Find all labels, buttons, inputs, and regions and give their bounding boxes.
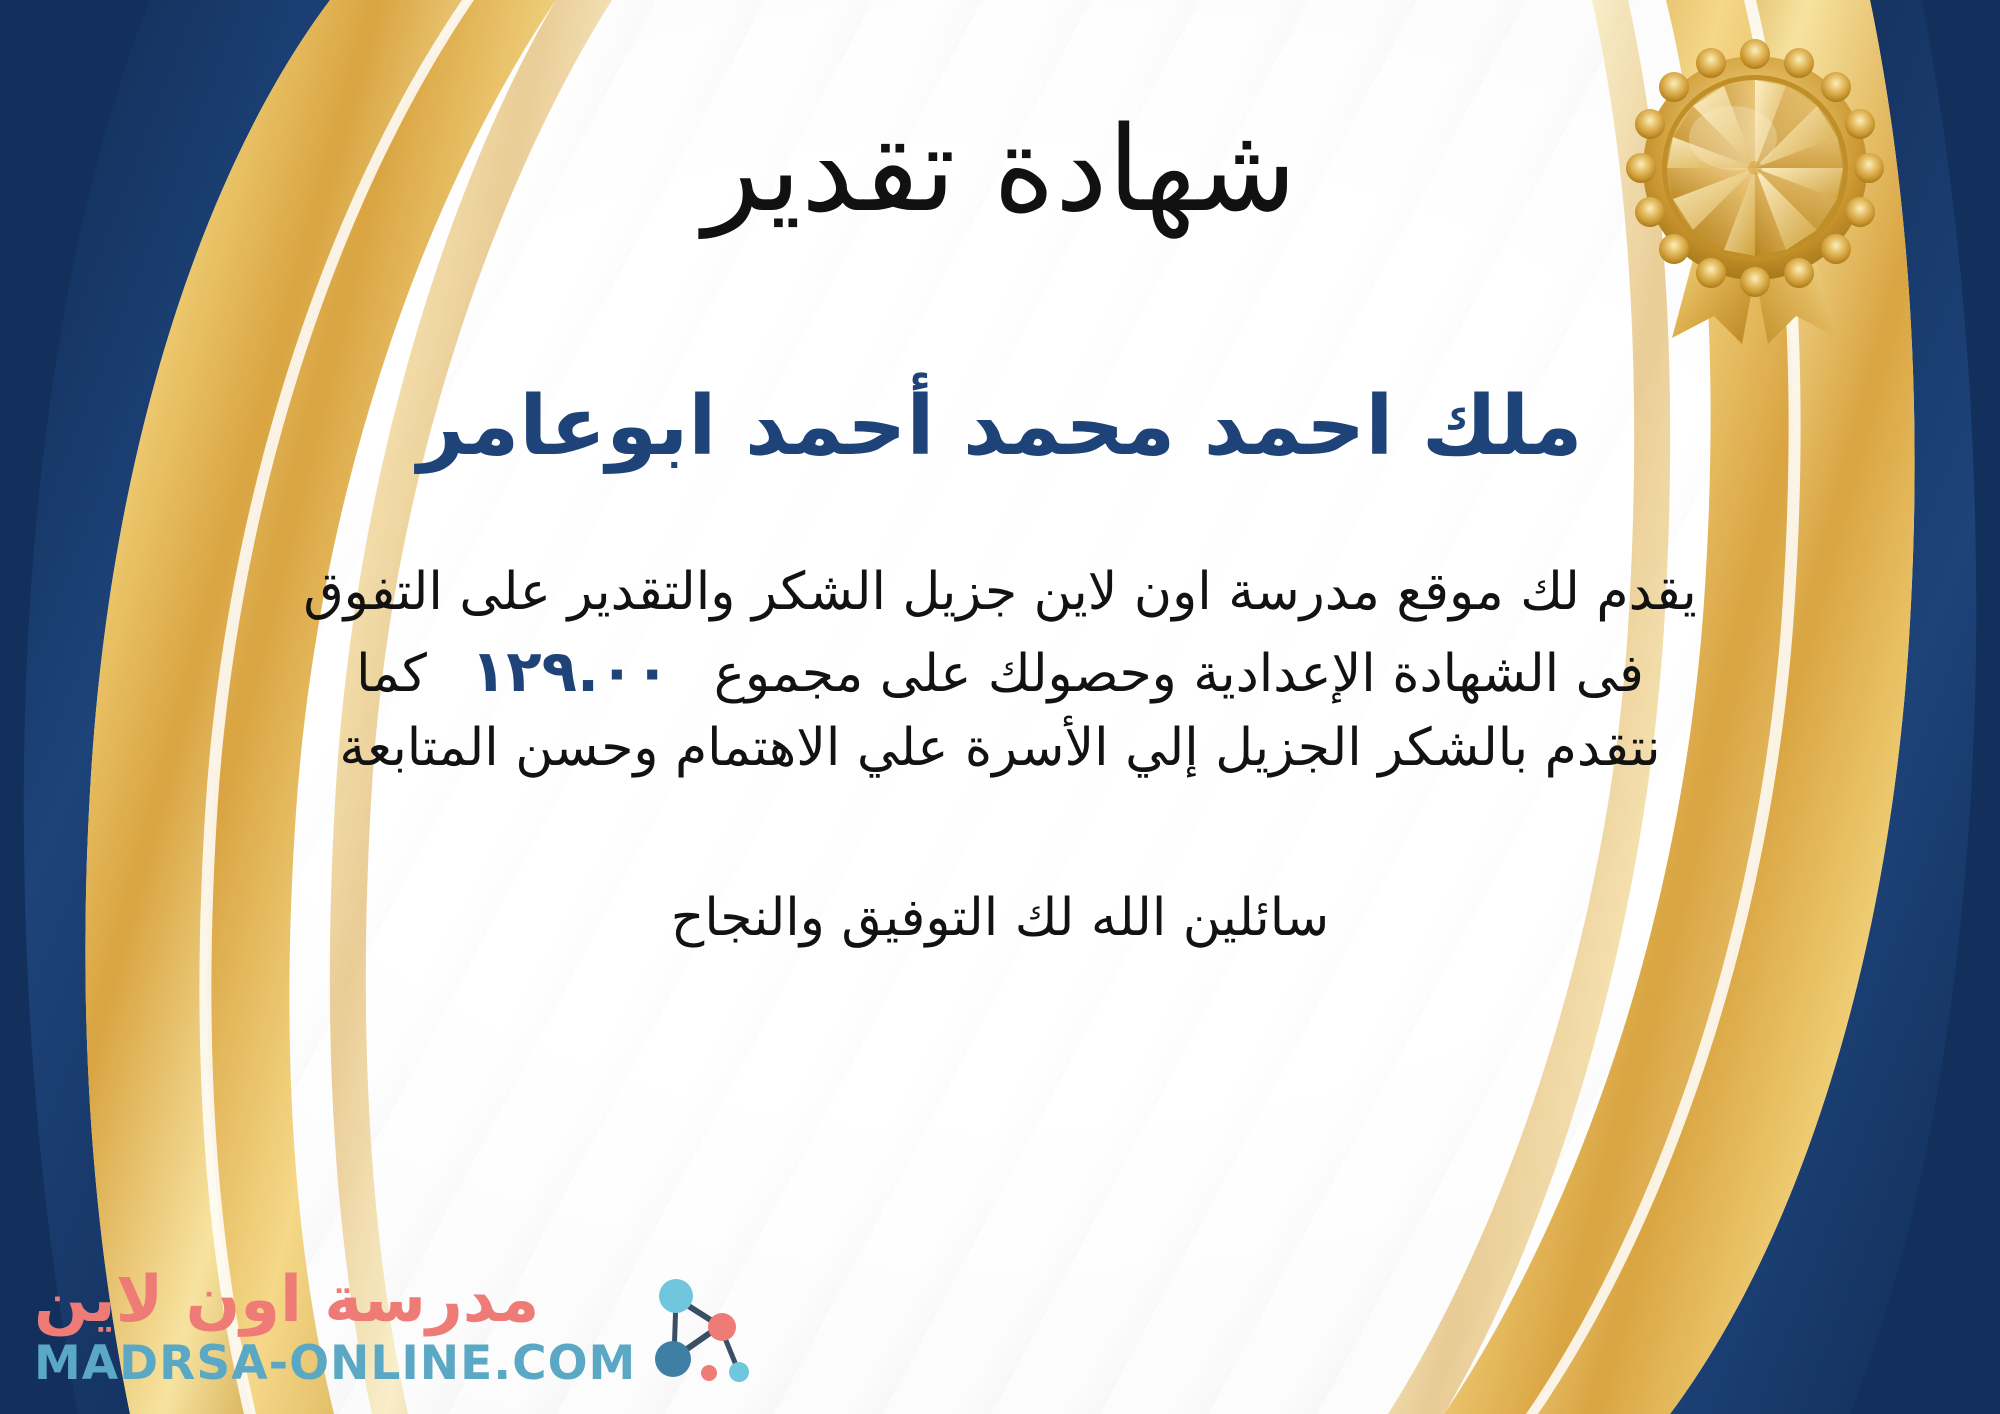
site-logo[interactable]: مدرسة اون لاين MADRSA-ONLINE.COM — [34, 1267, 752, 1388]
total-score-value: ١٢٩.٠٠ — [427, 637, 714, 705]
network-nodes-icon — [646, 1270, 750, 1386]
certificate-page: شهادة تقدير ملك احمد محمد أحمد ابوعامر ي… — [0, 0, 2000, 1414]
body-line-1: يقدم لك موقع مدرسة اون لاين جزيل الشكر و… — [220, 556, 1780, 630]
recipient-name: ملك احمد محمد أحمد ابوعامر — [0, 232, 2000, 472]
closing-line: سائلين الله لك التوفيق والنجاح — [0, 786, 2000, 955]
body-line-2-after: كما — [356, 644, 427, 704]
body-line-3: نتقدم بالشكر الجزيل إلي الأسرة علي الاهت… — [220, 712, 1780, 786]
page-title: شهادة تقدير — [0, 0, 2000, 232]
logo-website-url: MADRSA-ONLINE.COM — [34, 1339, 636, 1388]
body-line-2: فى الشهادة الإعدادية وحصولك على مجموع١٢٩… — [220, 630, 1780, 712]
logo-text-group: مدرسة اون لاين MADRSA-ONLINE.COM — [34, 1267, 636, 1388]
logo-arabic-name: مدرسة اون لاين — [34, 1267, 539, 1334]
body-paragraph: يقدم لك موقع مدرسة اون لاين جزيل الشكر و… — [220, 472, 1780, 786]
body-line-2-before: فى الشهادة الإعدادية وحصولك على مجموع — [714, 644, 1644, 704]
certificate-content: شهادة تقدير ملك احمد محمد أحمد ابوعامر ي… — [0, 0, 2000, 955]
